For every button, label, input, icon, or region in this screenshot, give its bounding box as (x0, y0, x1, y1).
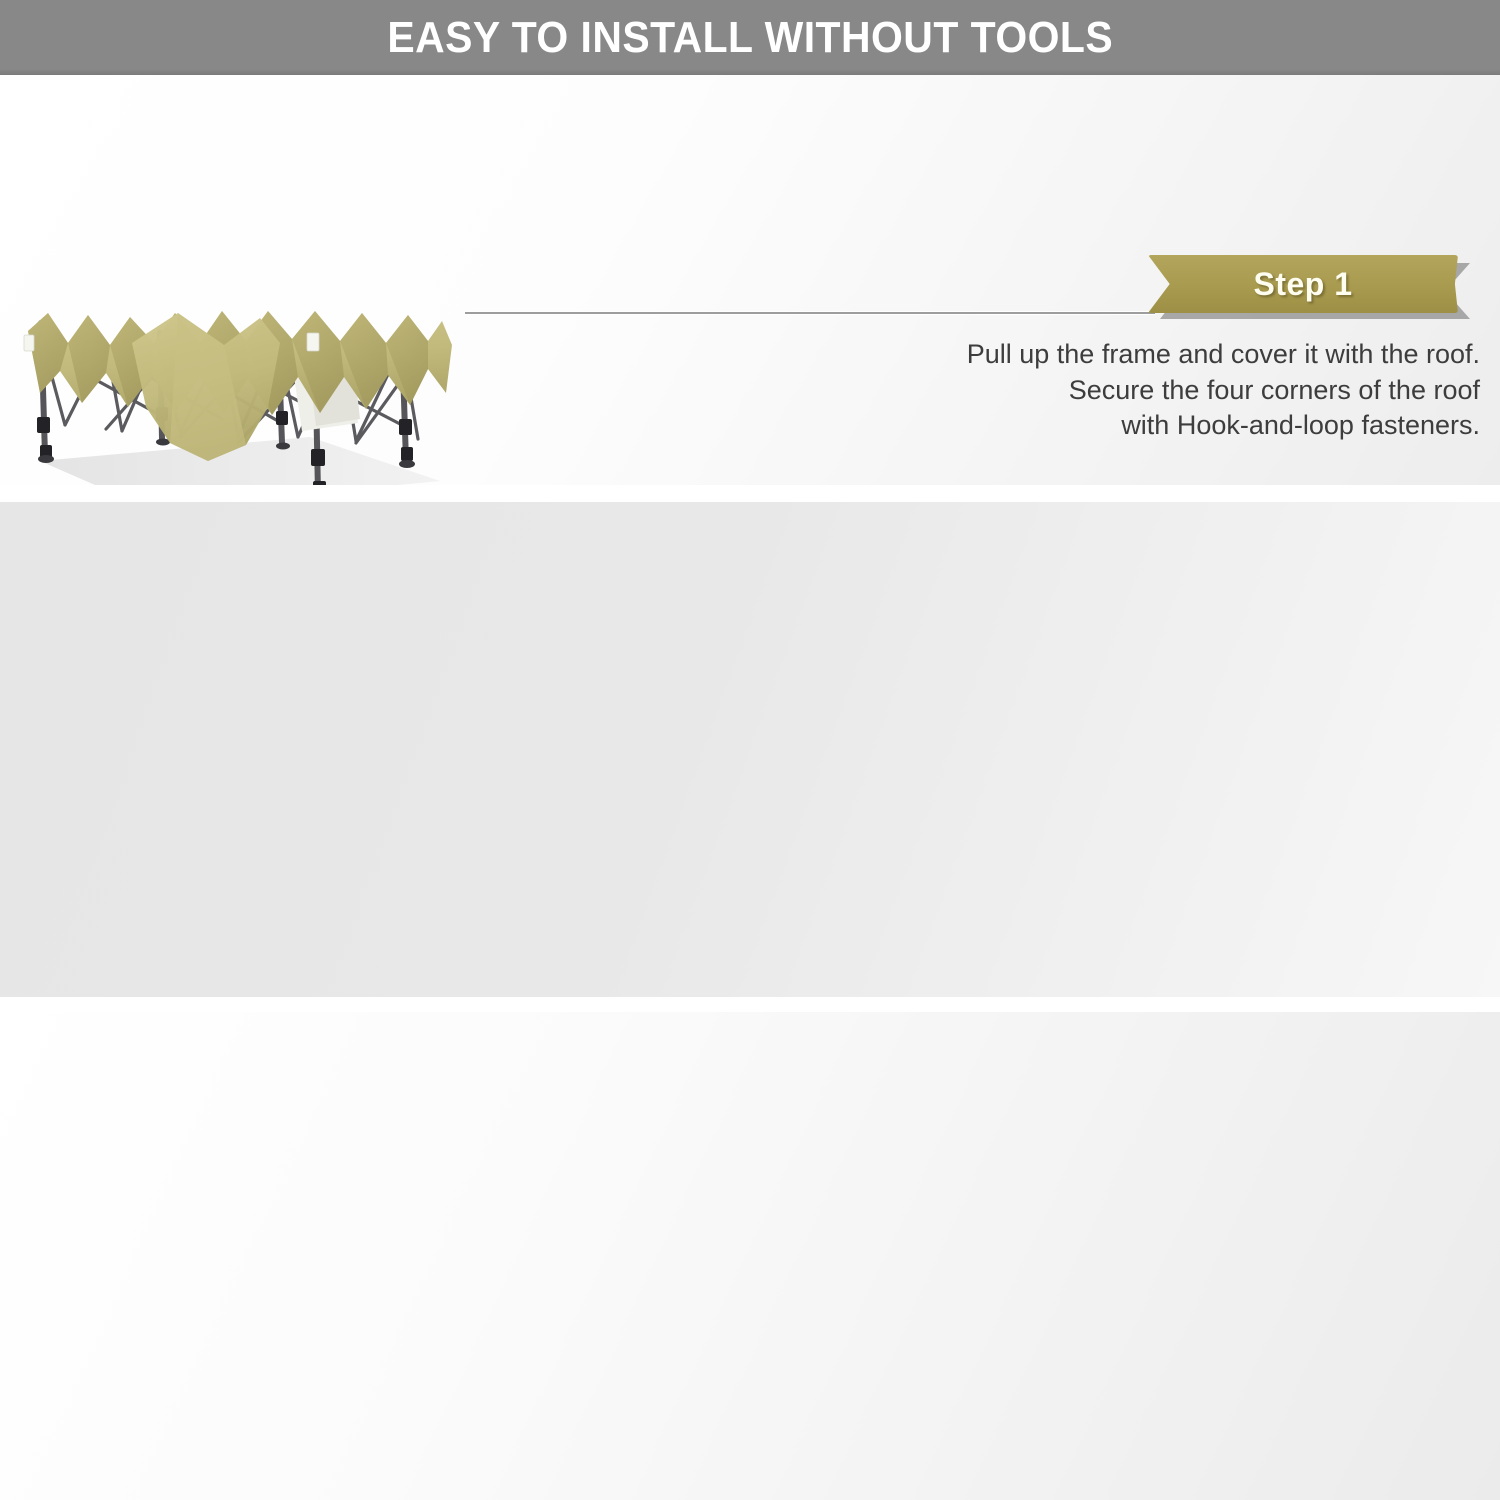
step-3-section: Step 3 Push it up until the frame is com… (0, 1012, 1500, 1500)
step-2-section: Step 2 Pull up the frame (0, 502, 1500, 997)
step-1-badge: Step 1 (1148, 255, 1458, 317)
step-1-badge-ribbon: Step 1 (1148, 255, 1458, 313)
step-1-section: Step 1 Pull up the frame and cover it wi… (0, 75, 1500, 485)
page-header: EASY TO INSTALL WITHOUT TOOLS (0, 0, 1500, 75)
page-title: EASY TO INSTALL WITHOUT TOOLS (387, 13, 1113, 63)
step-1-badge-label: Step 1 (1253, 266, 1352, 303)
step-1-description: Pull up the frame and cover it with the … (760, 337, 1480, 444)
step-1-connector-line (465, 311, 1155, 315)
step-1-image-folded-canopy-with-roof-draped (10, 193, 480, 485)
